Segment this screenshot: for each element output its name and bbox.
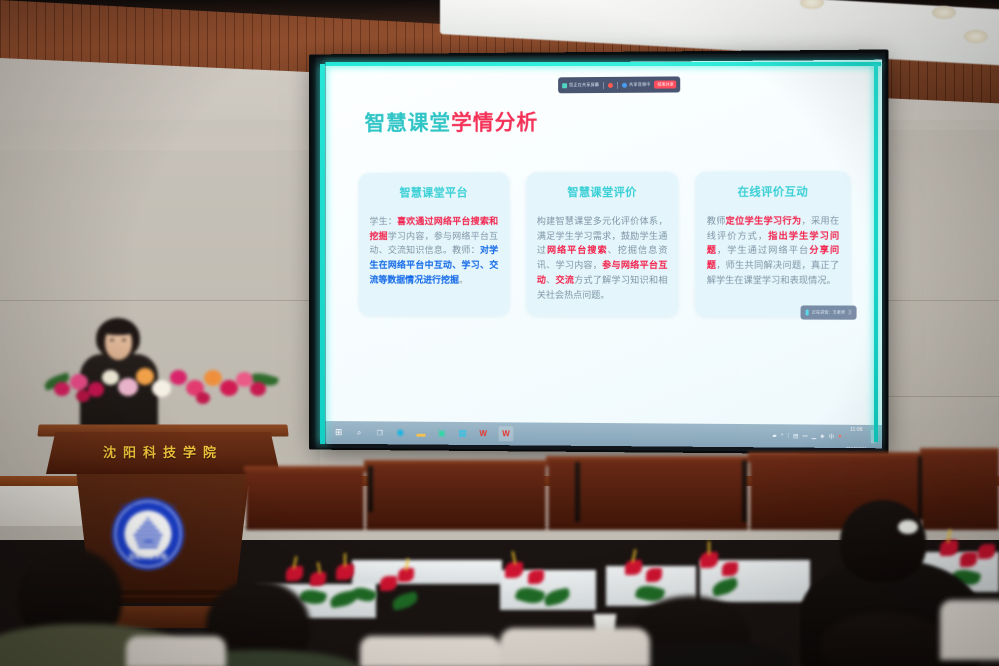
slide-card: 在线评价互动 教师定位学生学习行为，采用在线评价方式，指出学生学习问题，学生通过… xyxy=(696,171,851,317)
share-audio[interactable]: 共享音频中 xyxy=(622,82,651,88)
podium-name-plate: 沈阳科技学院 xyxy=(46,442,280,461)
sound-wave-icon: )) xyxy=(848,310,851,316)
desk xyxy=(922,452,999,530)
signal-icon xyxy=(562,83,567,88)
shield-icon[interactable]: ● xyxy=(838,433,841,439)
wps-presentation-icon[interactable]: W xyxy=(499,426,514,441)
conference-room-photo: 您正在共享屏幕 共享音频中 结束共享 智慧课堂学情分析 智慧课堂平台 学 xyxy=(0,0,999,666)
desk-divider xyxy=(575,462,580,522)
task-view-icon[interactable]: ❐ xyxy=(374,427,385,438)
desk-divider xyxy=(742,460,747,522)
clock-time: 11:08 xyxy=(850,427,862,433)
university-emblem: SHENYANG INSTITUTE OF SCIENCE AND TECHNO… xyxy=(112,498,184,570)
anthurium-flower xyxy=(310,572,326,586)
slide-title-part1: 智慧课堂 xyxy=(365,112,451,135)
start-button[interactable]: ⊞ xyxy=(333,427,344,438)
desk-top xyxy=(364,460,548,466)
search-icon[interactable]: ⌕ xyxy=(354,427,365,438)
presenter-fringe xyxy=(102,322,135,335)
desk-top xyxy=(244,466,366,472)
taskbar-apps: ⊞ ⌕ ❐ ◉ ▬ ▣ ▦ W W xyxy=(325,425,513,441)
desk xyxy=(246,470,364,530)
screen-share-toolbar[interactable]: 您正在共享屏幕 共享音频中 结束共享 xyxy=(558,76,681,93)
stop-share-button[interactable]: 结束共享 xyxy=(655,80,677,88)
taskbar-clock[interactable]: 11:08 2024/10/11 xyxy=(846,418,867,449)
card-body: 学生：喜欢通过网络平台搜索和挖掘学习内容，参与网络平台互动、交流知识信息。教师：… xyxy=(369,214,498,287)
screen-glow-left xyxy=(320,64,325,444)
wall-seam xyxy=(885,300,999,301)
emblem-top-text: SHENYANG INSTITUTE OF SCIENCE AND TECHNO… xyxy=(112,504,184,510)
battery-icon[interactable]: ▰ xyxy=(772,433,776,439)
volume-icon[interactable]: ◈ xyxy=(820,433,824,439)
share-status: 您正在共享屏幕 xyxy=(562,82,599,88)
desk-top xyxy=(920,448,999,454)
anthurium-flower xyxy=(940,540,958,556)
network-icon[interactable]: ▁ xyxy=(812,433,816,439)
card-heading: 智慧课堂平台 xyxy=(369,184,498,200)
card-body: 教师定位学生学习行为，采用在线评价方式，指出学生学习问题，学生通过网络平台分享问… xyxy=(707,214,840,288)
flower-arrangement xyxy=(44,352,280,414)
desk-top xyxy=(748,452,922,458)
slide-title-part2: 学情分析 xyxy=(451,111,538,134)
anthurium-flower xyxy=(380,576,397,591)
slide-content: 您正在共享屏幕 共享音频中 结束共享 智慧课堂学情分析 智慧课堂平台 学 xyxy=(325,60,882,449)
anthurium-flower xyxy=(286,566,303,581)
slide-title: 智慧课堂学情分析 xyxy=(365,106,539,137)
emblem-year: 1999 xyxy=(112,539,184,544)
file-explorer-icon[interactable]: ▬ xyxy=(416,428,427,439)
app-icon-green[interactable]: ▣ xyxy=(436,428,447,439)
photos-icon[interactable]: ▦ xyxy=(457,428,468,439)
microphone-icon[interactable] xyxy=(608,82,613,87)
bluetooth-icon[interactable]: ⁞ xyxy=(787,433,789,439)
share-audio-label: 共享音频中 xyxy=(629,82,651,88)
desk xyxy=(366,464,546,530)
system-tray[interactable]: ▰ ^ ⁞ ▤ ▭ ▁ ◈ 中 ● 11:08 2024/10/11 xyxy=(772,417,882,448)
windows-taskbar[interactable]: ⊞ ⌕ ❐ ◉ ▬ ▣ ▦ W W ▰ ^ ⁞ ▤ ▭ ▁ ◈ xyxy=(325,421,882,448)
wall-seam xyxy=(885,396,999,397)
card-body: 构建智慧课堂多元化评价体系，满足学生学习需求，鼓励学生通过网络平台搜索、挖掘信息… xyxy=(537,214,668,303)
downlight xyxy=(964,30,988,43)
screen-glow-top xyxy=(325,62,881,66)
ime-icon[interactable]: 中 xyxy=(829,432,835,440)
microphone-icon xyxy=(806,309,809,315)
downlight xyxy=(932,6,956,19)
anthurium-flower xyxy=(528,570,544,584)
emblem-bottom-text: 沈阳科技学院 xyxy=(112,552,184,561)
chevron-up-icon[interactable]: ^ xyxy=(781,433,784,439)
wall-seam xyxy=(0,300,320,301)
desk-divider xyxy=(368,466,373,512)
divider xyxy=(603,81,604,88)
active-speaker-widget[interactable]: 正在讲话：王老师 )) xyxy=(801,305,857,319)
clock-date: 2024/10/11 xyxy=(846,445,867,448)
projection-screen: 您正在共享屏幕 共享音频中 结束共享 智慧课堂学情分析 智慧课堂平台 学 xyxy=(325,60,882,449)
wall-panel-right xyxy=(885,130,999,490)
desk-surface xyxy=(352,560,502,584)
anthurium-flower xyxy=(960,552,977,567)
wps-icon[interactable]: W xyxy=(478,428,489,439)
card-heading: 在线评价互动 xyxy=(707,183,840,199)
note-icon[interactable]: ▤ xyxy=(793,433,798,439)
anthurium-flower xyxy=(722,562,738,576)
anthurium-flower xyxy=(978,544,995,559)
anthurium-flower xyxy=(625,560,642,575)
audio-icon xyxy=(622,82,627,87)
anthurium-flower xyxy=(646,568,662,582)
slide-card: 智慧课堂评价 构建智慧课堂多元化评价体系，满足学生学习需求，鼓励学生通过网络平台… xyxy=(526,172,679,317)
card-heading: 智慧课堂评价 xyxy=(537,184,668,200)
slide-card: 智慧课堂平台 学生：喜欢通过网络平台搜索和挖掘学习内容，参与网络平台互动、交流知… xyxy=(359,172,509,316)
screen-glow-right xyxy=(874,64,878,442)
active-speaker-label: 正在讲话：王老师 xyxy=(812,309,845,315)
divider xyxy=(617,81,618,88)
edge-icon[interactable]: ◉ xyxy=(395,427,406,438)
share-status-label: 您正在共享屏幕 xyxy=(569,82,599,88)
display-icon[interactable]: ▭ xyxy=(802,433,807,439)
slide-card-row: 智慧课堂平台 学生：喜欢通过网络平台搜索和挖掘学习内容，参与网络平台互动、交流知… xyxy=(359,171,851,317)
